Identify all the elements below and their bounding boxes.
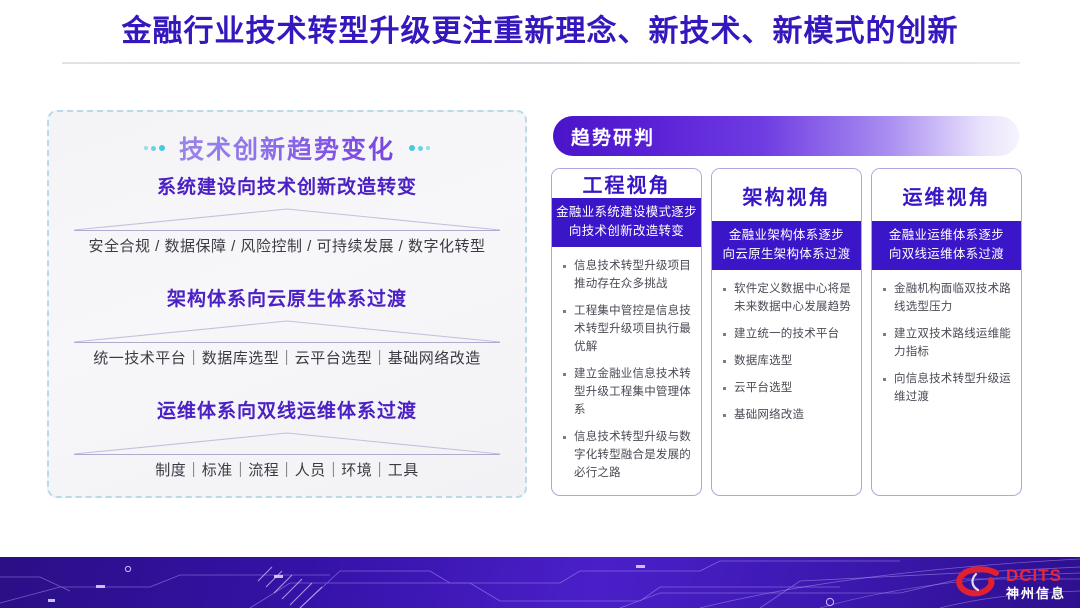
circuit-pattern-icon [0,557,1080,608]
brand-logo: DCITS 神州信息 [955,563,1066,603]
list-item: 建立金融业信息技术转型升级工程集中管理体系 [558,365,693,419]
dots-right-icon [409,145,430,151]
trend-block-3: 运维体系向双线运维体系过渡 制度｜标准｜流程｜人员｜环境｜工具 [49,400,525,482]
card-architecture-perspective[interactable]: 架构视角 金融业架构体系逐步 向云原生架构体系过渡 软件定义数据中心将是未来数据… [711,168,862,496]
card-2-band-line1: 金融业架构体系逐步 [716,226,857,245]
trend-change-heading-row: 技术创新趋势变化 [49,130,525,166]
list-item: 云平台选型 [718,379,853,397]
trend-block-2-items: 统一技术平台｜数据库选型｜云平台选型｜基础网络改造 [49,348,525,370]
trend-block-3-head: 运维体系向双线运维体系过渡 [49,400,525,424]
trend-change-panel: 技术创新趋势变化 系统建设向技术创新改造转变 安全合规 / 数据保障 / 风险控… [47,110,527,498]
card-1-title: 工程视角 [552,169,701,198]
page-title-wrap: 金融行业技术转型升级更注重新理念、新技术、新模式的创新 [0,14,1080,50]
banner-inner: 趋势研判 [553,116,1019,156]
page-title: 金融行业技术转型升级更注重新理念、新技术、新模式的创新 [0,14,1080,50]
swoosh-icon [955,566,1001,600]
card-engineering-perspective[interactable]: 工程视角 金融业系统建设模式逐步 向技术创新改造转变 信息技术转型升级项目推动存… [551,168,702,496]
trend-block-1-items: 安全合规 / 数据保障 / 风险控制 / 可持续发展 / 数字化转型 [49,236,525,258]
list-item: 建立双技术路线运维能力指标 [878,325,1013,361]
list-item: 数据库选型 [718,352,853,370]
list-item: 向信息技术转型升级运维过渡 [878,370,1013,406]
card-2-band-line2: 向云原生架构体系过渡 [716,245,857,264]
chevron-up-icon-2 [72,318,502,345]
list-item: 建立统一的技术平台 [718,325,853,343]
card-2-band: 金融业架构体系逐步 向云原生架构体系过渡 [712,221,861,270]
list-item: 信息技术转型升级与数字化转型融合是发展的必行之路 [558,428,693,482]
trend-block-1-head: 系统建设向技术创新改造转变 [49,176,525,200]
logo-text: DCITS 神州信息 [1006,567,1066,600]
footer-band: DCITS 神州信息 [0,557,1080,608]
card-1-band-line2: 向技术创新改造转变 [556,222,697,241]
trend-block-2: 架构体系向云原生体系过渡 统一技术平台｜数据库选型｜云平台选型｜基础网络改造 [49,288,525,370]
list-item: 基础网络改造 [718,406,853,424]
chevron-up-icon-1 [72,206,502,233]
card-1-band: 金融业系统建设模式逐步 向技术创新改造转变 [552,198,701,247]
trend-judgement-banner-label: 趋势研判 [571,123,655,150]
trend-change-heading: 技术创新趋势变化 [179,130,395,166]
trend-block-2-head: 架构体系向云原生体系过渡 [49,288,525,312]
list-item: 信息技术转型升级项目推动存在众多挑战 [558,257,693,293]
slide-root: 金融行业技术转型升级更注重新理念、新技术、新模式的创新 技术创新趋势变化 系统建… [0,0,1080,608]
trend-block-1: 系统建设向技术创新改造转变 安全合规 / 数据保障 / 风险控制 / 可持续发展… [49,176,525,258]
card-3-band-line2: 向双线运维体系过渡 [876,245,1017,264]
perspective-cards: 工程视角 金融业系统建设模式逐步 向技术创新改造转变 信息技术转型升级项目推动存… [551,168,1023,498]
card-3-band: 金融业运维体系逐步 向双线运维体系过渡 [872,221,1021,270]
list-item: 金融机构面临双技术路线选型压力 [878,280,1013,316]
title-divider [62,62,1020,64]
card-2-title: 架构视角 [712,169,861,221]
list-item: 软件定义数据中心将是未来数据中心发展趋势 [718,280,853,316]
card-1-band-line1: 金融业系统建设模式逐步 [556,203,697,222]
card-operations-perspective[interactable]: 运维视角 金融业运维体系逐步 向双线运维体系过渡 金融机构面临双技术路线选型压力… [871,168,1022,496]
dots-left-icon [144,145,165,151]
logo-cn: 神州信息 [1006,587,1066,600]
chevron-up-icon-3 [72,430,502,457]
trend-block-3-items: 制度｜标准｜流程｜人员｜环境｜工具 [49,460,525,482]
logo-en: DCITS [1006,567,1066,584]
card-3-bullets: 金融机构面临双技术路线选型压力 建立双技术路线运维能力指标 向信息技术转型升级运… [872,270,1021,495]
card-2-bullets: 软件定义数据中心将是未来数据中心发展趋势 建立统一的技术平台 数据库选型 云平台… [712,270,861,495]
card-3-band-line1: 金融业运维体系逐步 [876,226,1017,245]
card-3-title: 运维视角 [872,169,1021,221]
trend-judgement-banner: 趋势研判 [553,116,1019,156]
list-item: 工程集中管控是信息技术转型升级项目执行最优解 [558,302,693,356]
card-1-bullets: 信息技术转型升级项目推动存在众多挑战 工程集中管控是信息技术转型升级项目执行最优… [552,247,701,496]
